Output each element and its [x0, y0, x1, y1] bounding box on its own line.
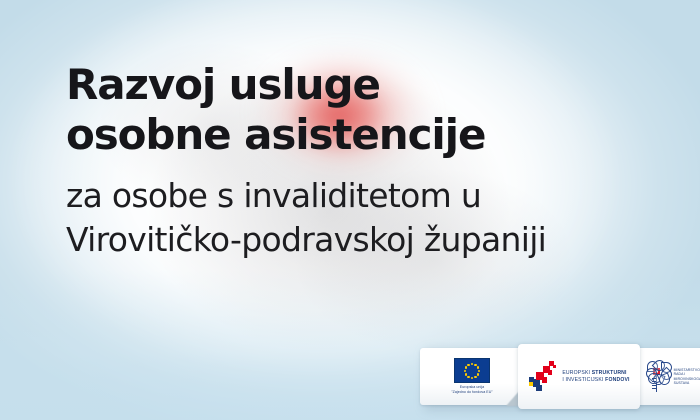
poster-headline: Razvoj usluge osobne asistencije — [66, 60, 666, 160]
eu-star-icon — [471, 377, 473, 379]
eu-caption-line-2: "Zajedno do fondova EU" — [451, 390, 492, 395]
ministry-text-line-4: SUSTAVA — [674, 381, 700, 385]
eu-logo: Europska unija "Zajedno do fondova EU" — [451, 358, 492, 394]
eu-star-icon — [467, 376, 469, 378]
headline-line-1: Razvoj usluge — [66, 60, 666, 110]
esi-square-3 — [536, 385, 542, 391]
esi-line2-thin: I INVESTICIJSKI — [562, 377, 603, 383]
esi-square-7 — [548, 370, 553, 375]
ribbon-panel-ministry: MINISTARSTVO RADA I MIROVINSKOGA SUSTAVA — [634, 348, 700, 405]
eu-star-icon — [467, 364, 469, 366]
eu-star-icon — [465, 366, 467, 368]
eu-star-icon — [471, 363, 473, 365]
poster-text-block: Razvoj usluge osobne asistencije za osob… — [66, 60, 666, 262]
subheadline-line-2: Virovitičko-podravskoj županiji — [66, 218, 666, 262]
esi-text-line-1: EUROPSKI STRUKTURNI — [562, 370, 629, 377]
esi-line2-bold: FONDOVI — [605, 377, 629, 383]
ministry-stem-rung-2 — [652, 385, 656, 386]
headline-line-2: osobne asistencije — [66, 110, 666, 160]
eu-star-icon — [465, 373, 467, 375]
ministry-flower-icon — [645, 360, 671, 394]
eu-star-icon — [474, 376, 476, 378]
ribbon-panel-esi: EUROPSKI STRUKTURNI I INVESTICIJSKI FOND… — [518, 344, 640, 409]
eu-star-icon — [477, 366, 479, 368]
ministry-stem-rung-3 — [652, 388, 656, 389]
esi-square-9 — [553, 365, 557, 369]
esi-logo-text: EUROPSKI STRUKTURNI I INVESTICIJSKI FOND… — [562, 370, 629, 384]
esi-square-5 — [542, 377, 548, 383]
ministry-logo: MINISTARSTVO RADA I MIROVINSKOGA SUSTAVA — [645, 360, 700, 394]
eu-star-icon — [464, 370, 466, 372]
eu-caption: Europska unija "Zajedno do fondova EU" — [451, 385, 492, 394]
ministry-logo-text: MINISTARSTVO RADA I MIROVINSKOGA SUSTAVA — [674, 368, 700, 386]
esi-funds-logo: EUROPSKI STRUKTURNI I INVESTICIJSKI FOND… — [528, 359, 629, 395]
esi-text-line-2: I INVESTICIJSKI FONDOVI — [562, 377, 629, 384]
poster-canvas: Razvoj usluge osobne asistencije za osob… — [0, 0, 700, 420]
funding-logo-ribbon: Europska unija "Zajedno do fondova EU" E… — [420, 344, 700, 412]
subheadline-line-1: za osobe s invaliditetom u — [66, 174, 666, 218]
eu-flag-icon — [454, 358, 490, 383]
eu-star-icon — [477, 373, 479, 375]
poster-subheadline: za osobe s invaliditetom u Virovitičko-p… — [66, 174, 666, 262]
eu-star-icon — [478, 370, 480, 372]
ministry-stem-rung-0 — [652, 378, 656, 379]
esi-line1-thin: EUROPSKI — [562, 370, 590, 376]
esi-line1-bold: STRUKTURNI — [592, 370, 627, 376]
ministry-stem-rung-1 — [652, 381, 656, 382]
esi-squares-icon — [528, 359, 558, 395]
